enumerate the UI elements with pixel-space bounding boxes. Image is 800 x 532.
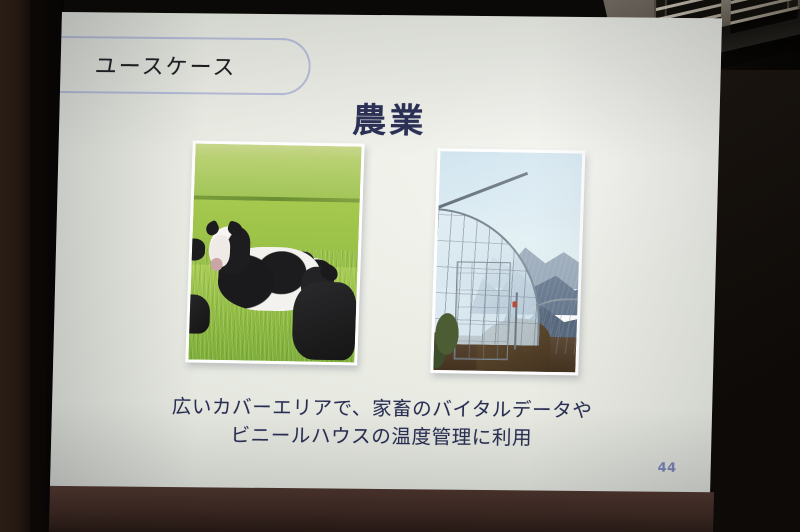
- photo-greenhouse: [430, 148, 585, 375]
- page-number: 44: [657, 461, 676, 476]
- slide-caption: 広いカバーエリアで、家畜のバイタルデータや ビニールハウスの温度管理に利用: [51, 392, 712, 454]
- photo-cows: [185, 140, 365, 365]
- header-label: ユースケース: [94, 48, 237, 81]
- projection-screen: ユースケース 農業: [62, 12, 726, 520]
- photo-cows-image: [188, 144, 361, 363]
- screen-frame: ユースケース 農業: [49, 12, 726, 526]
- presentation-slide: ユースケース 農業: [50, 12, 722, 494]
- screen-bottom-trim: [49, 486, 714, 532]
- greenhouse-foliage: [433, 304, 466, 370]
- left-wall: [0, 0, 30, 532]
- header-badge-cap: [270, 38, 311, 95]
- photo-greenhouse-image: [433, 151, 582, 372]
- header-rule-top: [61, 36, 285, 40]
- greenhouse-valve: [513, 301, 518, 307]
- caption-line-2: ビニールハウスの温度管理に利用: [51, 420, 712, 454]
- page-title: 農業: [59, 90, 720, 145]
- dark-room-background: ユースケース 農業: [0, 0, 800, 532]
- cow-foreground-body: [291, 281, 357, 360]
